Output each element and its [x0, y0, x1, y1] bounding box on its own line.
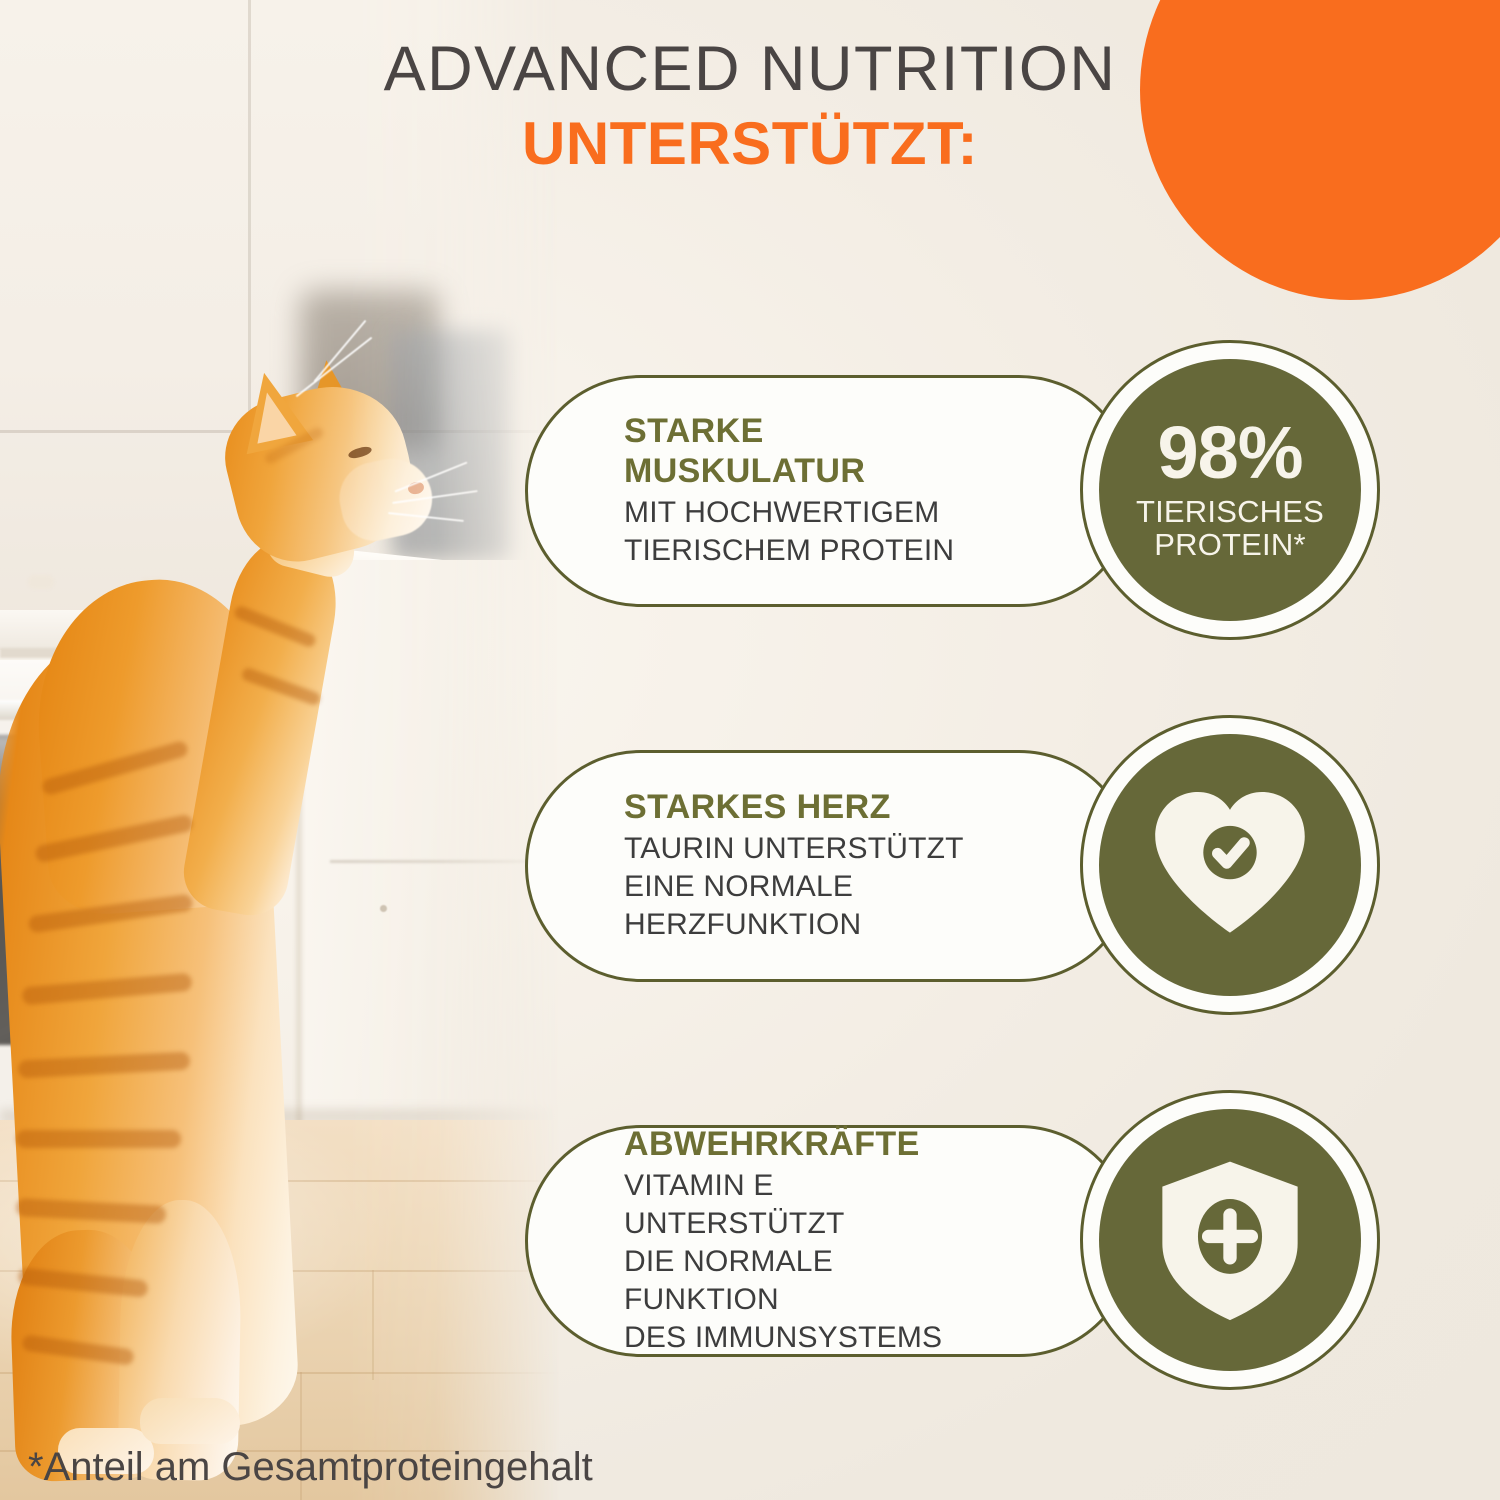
benefit-title-immunity: ABWEHRKRÄFTE [624, 1125, 982, 1165]
benefit-card-heart[interactable]: STARKES HERZ TAURIN UNTERSTÜTZT EINE NOR… [525, 750, 1135, 982]
benefit-body-line: VITAMIN E UNTERSTÜTZT [624, 1167, 982, 1243]
shield-plus-icon [1141, 1151, 1319, 1329]
footnote: *Anteil am Gesamtproteingehalt [28, 1445, 593, 1490]
ginger-cat [0, 330, 460, 1500]
benefit-body-muscle: MIT HOCHWERTIGEM TIERISCHEM PROTEIN [624, 494, 982, 570]
benefit-body-line: DES IMMUNSYSTEMS [624, 1319, 982, 1357]
badge-label: TIERISCHES PROTEIN* [1136, 496, 1324, 562]
benefit-body-immunity: VITAMIN E UNTERSTÜTZT DIE NORMALE FUNKTI… [624, 1167, 982, 1357]
benefit-title-line: STARKES HERZ [624, 788, 982, 828]
heart-badge[interactable] [1080, 715, 1380, 1015]
benefit-title-line: ABWEHRKRÄFTE [624, 1125, 982, 1165]
benefit-card-muscle[interactable]: STARKE MUSKULATUR MIT HOCHWERTIGEM TIERI… [525, 375, 1135, 607]
shield-badge[interactable] [1080, 1090, 1380, 1390]
cat-paw [140, 1398, 240, 1444]
benefit-body-line: TAURIN UNTERSTÜTZT [624, 830, 982, 868]
protein-percentage-badge[interactable]: 98% TIERISCHES PROTEIN* [1080, 340, 1380, 640]
badge-inner-circle [1099, 1109, 1361, 1371]
badge-label-line: PROTEIN* [1136, 529, 1324, 562]
benefit-title-line: MUSKULATUR [624, 452, 982, 492]
benefit-body-line: MIT HOCHWERTIGEM [624, 494, 982, 532]
badge-inner-circle [1099, 734, 1361, 996]
benefit-body-line: HERZFUNKTION [624, 906, 982, 944]
benefit-body-line: DIE NORMALE FUNKTION [624, 1243, 982, 1319]
benefit-title-heart: STARKES HERZ [624, 788, 982, 828]
orange-corner-circle [1140, 0, 1500, 300]
benefit-body-heart: TAURIN UNTERSTÜTZT EINE NORMALE HERZFUNK… [624, 830, 982, 944]
benefit-card-immunity[interactable]: ABWEHRKRÄFTE VITAMIN E UNTERSTÜTZT DIE N… [525, 1125, 1135, 1357]
benefit-title-muscle: STARKE MUSKULATUR [624, 412, 982, 492]
infographic-canvas: ADVANCED NUTRITION UNTERSTÜTZT: STARKE M… [0, 0, 1500, 1500]
badge-percent-value: 98% [1157, 418, 1302, 488]
badge-inner-circle: 98% TIERISCHES PROTEIN* [1099, 359, 1361, 621]
heart-check-icon [1141, 776, 1319, 954]
benefit-body-line: TIERISCHEM PROTEIN [624, 532, 982, 570]
benefit-body-line: EINE NORMALE [624, 868, 982, 906]
badge-label-line: TIERISCHES [1136, 496, 1324, 529]
cat-kitchen-photo [0, 0, 560, 1500]
benefit-title-line: STARKE [624, 412, 982, 452]
